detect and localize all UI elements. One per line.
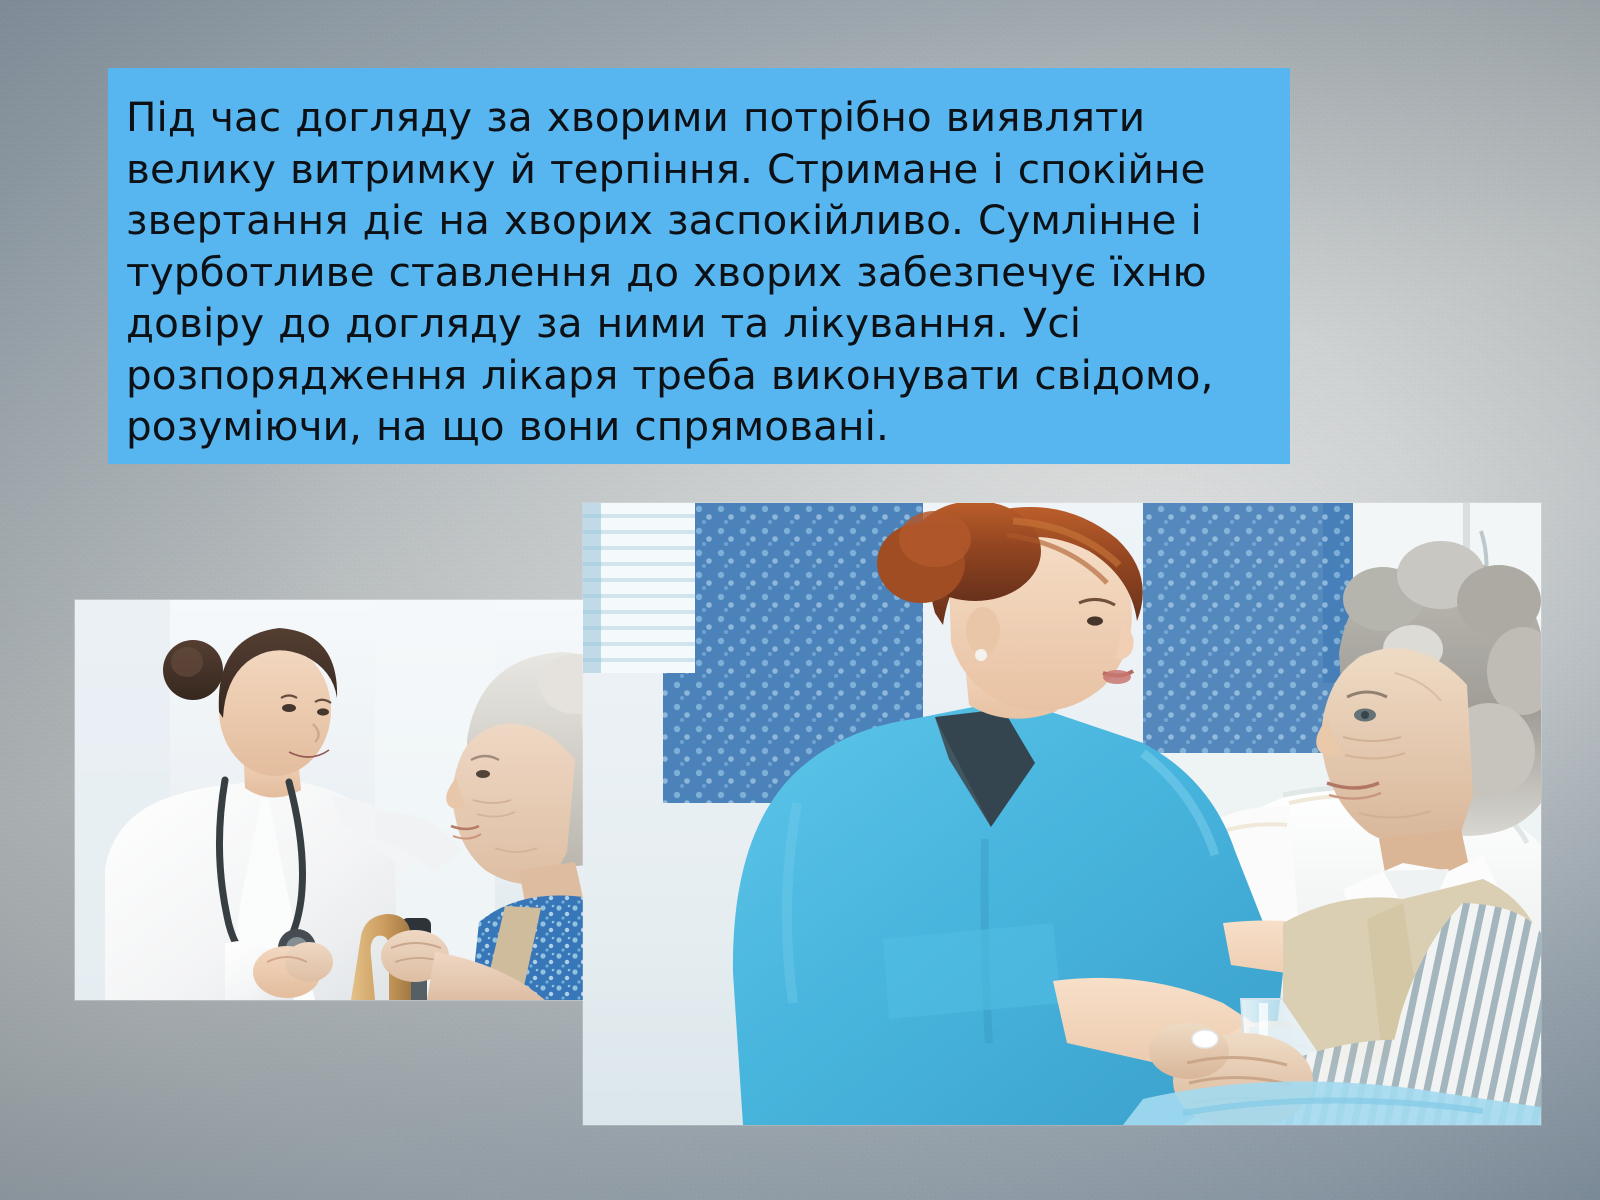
presentation-slide: Під час догляду за хворими потрібно вияв… (0, 0, 1600, 1200)
photo-nurse-giving-medication (583, 503, 1541, 1125)
text-panel: Під час догляду за хворими потрібно вияв… (108, 68, 1290, 464)
text-panel-body: Під час догляду за хворими потрібно вияв… (126, 92, 1264, 453)
photo-right-artwork (583, 503, 1541, 1125)
